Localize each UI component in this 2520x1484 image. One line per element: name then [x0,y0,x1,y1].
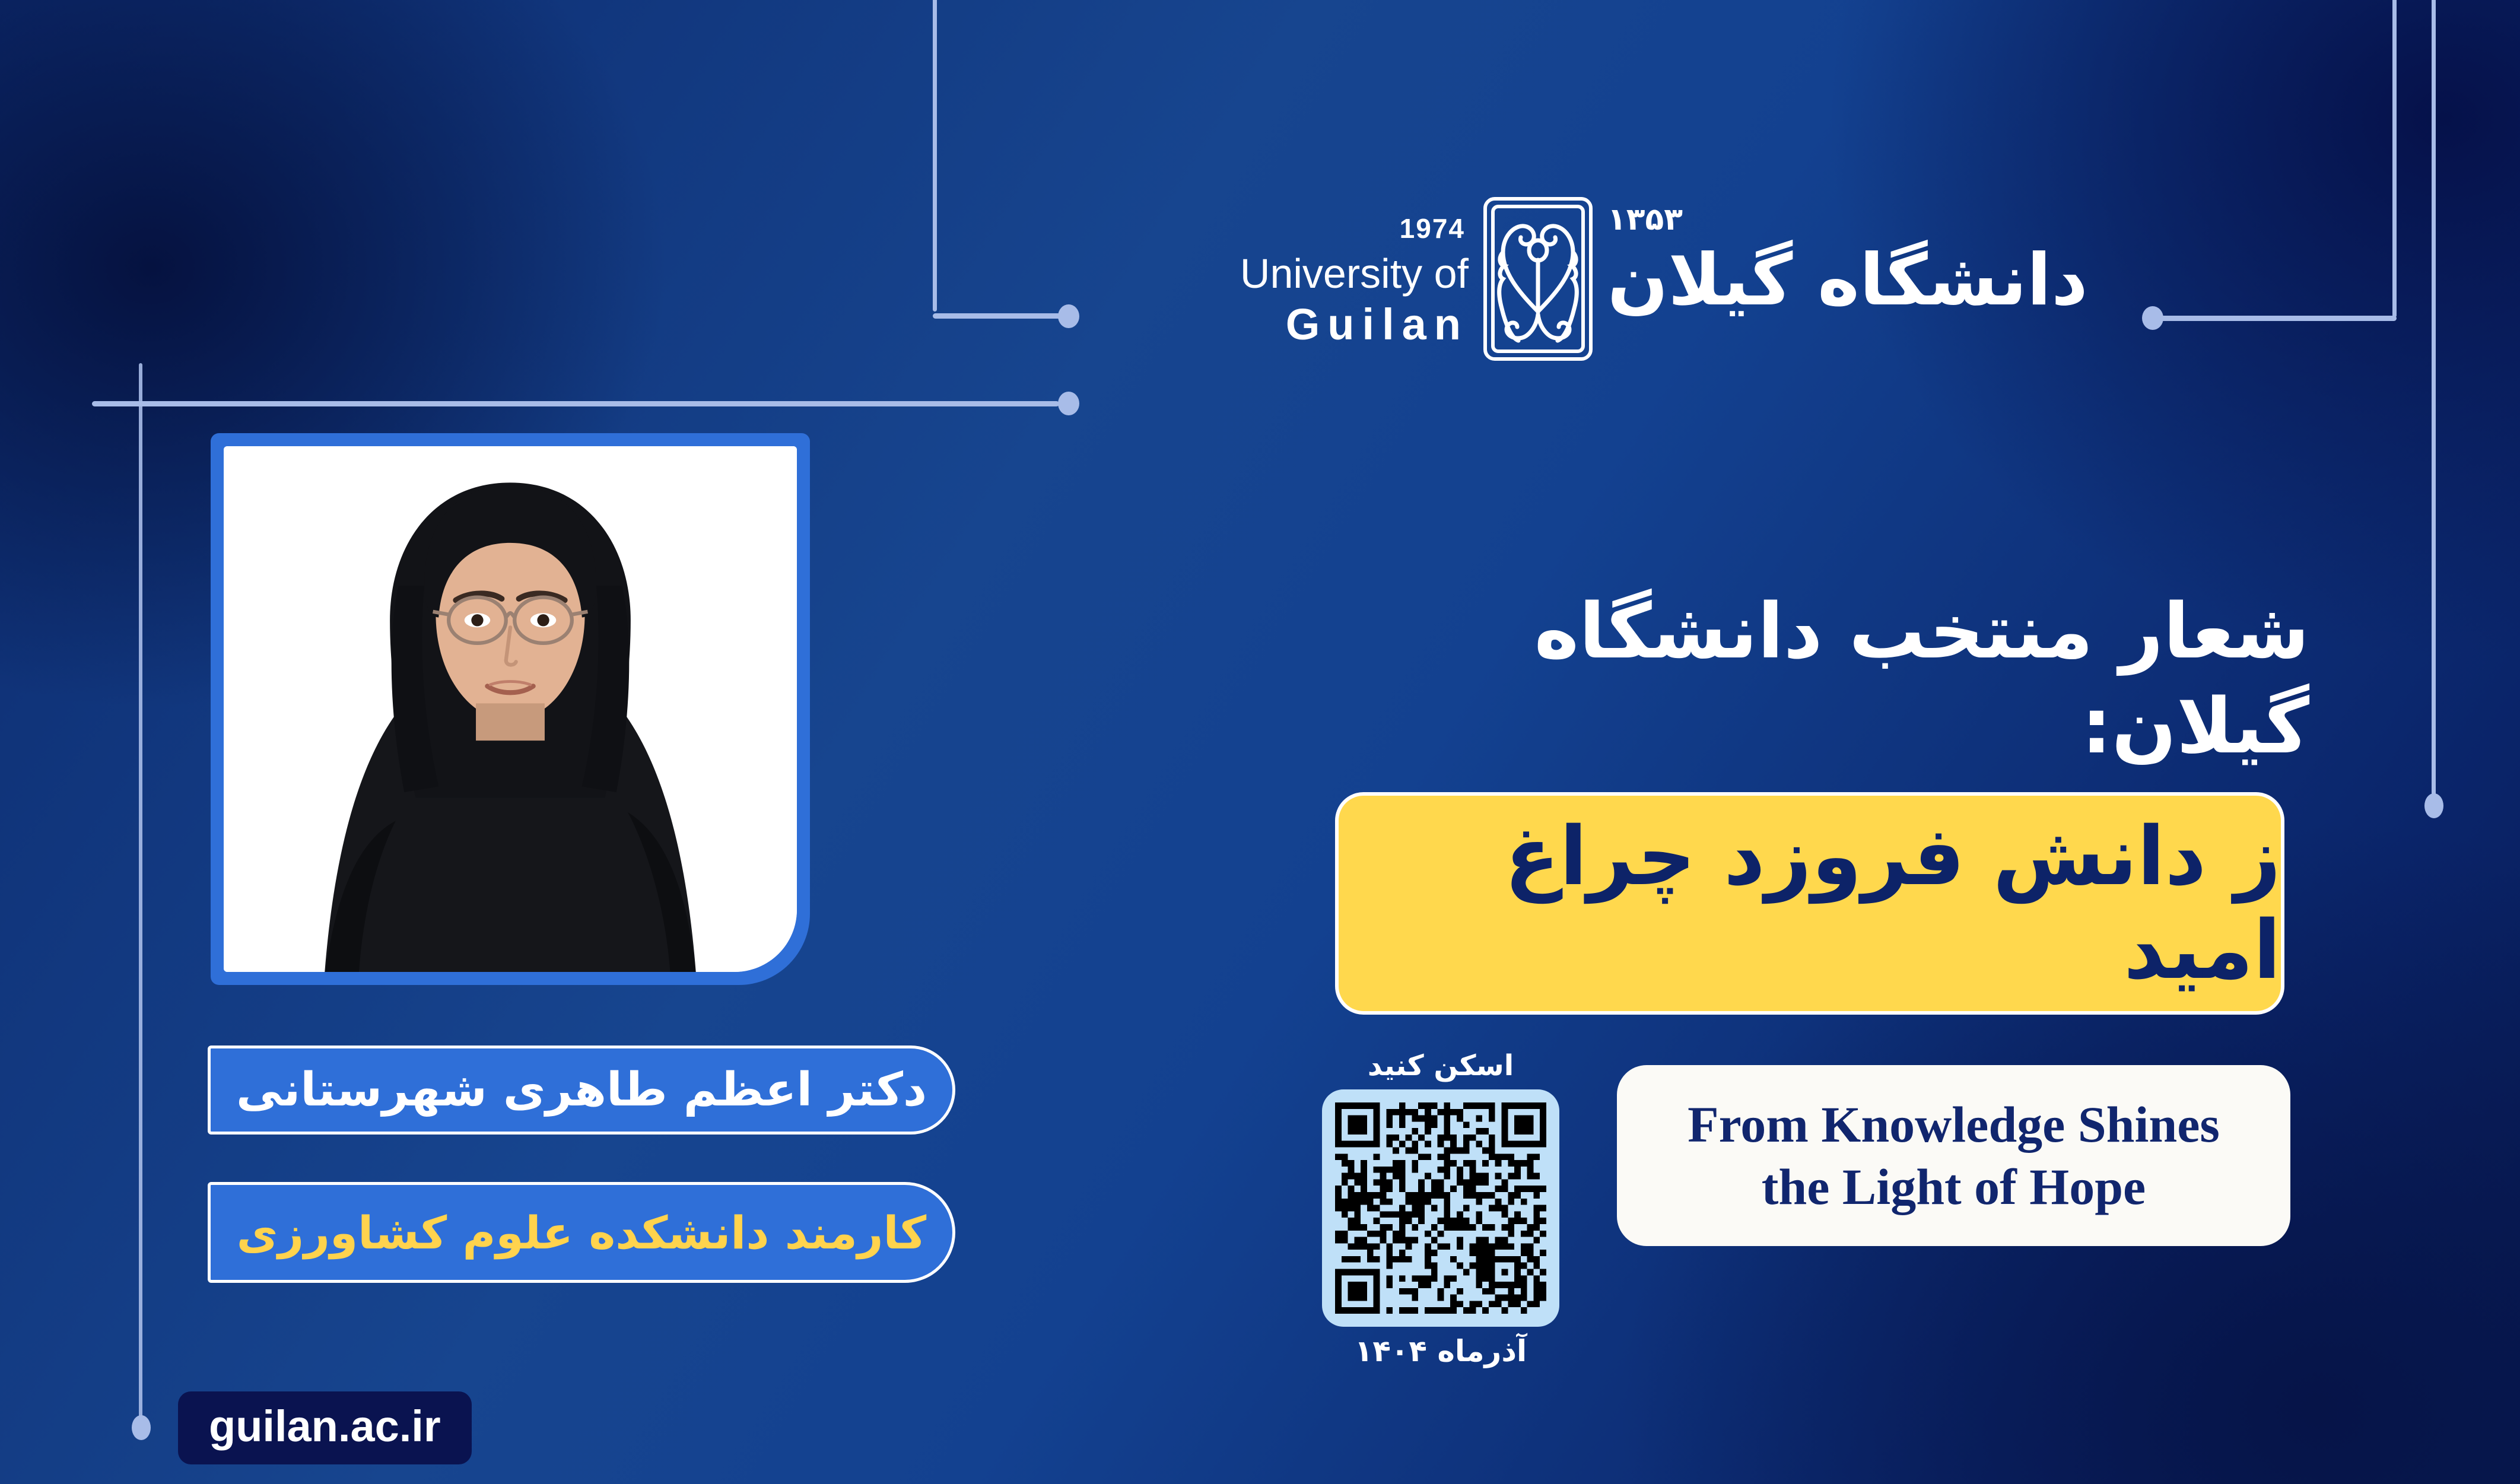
slogan-english-line1: From Knowledge Shines [1688,1094,2220,1156]
university-emblem-icon [1482,196,1594,362]
decor-line-vertical-right-long [2432,0,2436,801]
poster-canvas: 1974 University of Guilan [0,0,2520,1484]
logo-persian-block: ۱۳۵۳ دانشگاه گیلان [1607,196,2088,322]
qr-block: اسکن کنید آذرماه ۱۴۰۴ [1322,1049,1559,1368]
person-role-label: کارمند دانشکده علوم کشاورزی [237,1206,927,1259]
slogan-box: ز دانش فروزد چراغ امید [1335,792,2284,1015]
decor-line-horizontal-long [92,401,1059,406]
slogan-english-line2: the Light of Hope [1762,1156,2146,1218]
slogan-text-persian: ز دانش فروزد چراغ امید [1339,810,2281,997]
qr-code[interactable] [1322,1089,1559,1327]
qr-caption: اسکن کنید [1322,1049,1559,1082]
logo-guilan-word: Guilan [1196,303,1469,347]
slogan-heading: شعار منتخب دانشگاه گیلان: [1336,584,2309,774]
qr-date-label: آذرماه ۱۴۰۴ [1322,1334,1559,1368]
person-name-label: دکتر اعظم طاهری شهرستانی [236,1063,927,1117]
decor-line-horizontal-topleft [933,313,1063,319]
decor-dot-topright [2142,306,2163,330]
logo-founded-year-gregorian: 1974 [1196,215,1469,242]
decor-dot-right-long [2424,793,2443,818]
decor-dot-bottomleft [132,1415,151,1440]
portrait-photo [224,446,797,972]
qr-code-icon [1335,1102,1546,1314]
logo-founded-year-persian: ۱۳۵۳ [1607,202,2088,237]
logo-english-block: 1974 University of Guilan [1196,196,1469,347]
university-logo: 1974 University of Guilan [1196,196,2088,362]
decor-line-vertical-left-tick [139,363,142,1425]
decor-dot-topleft [1058,304,1079,328]
person-role-pill: کارمند دانشکده علوم کشاورزی [208,1182,955,1283]
website-badge[interactable]: guilan.ac.ir [178,1391,472,1464]
decor-line-vertical-topright [2392,0,2397,317]
logo-university-word: University of [1196,253,1469,294]
portrait-frame [211,433,810,985]
person-name-pill: دکتر اعظم طاهری شهرستانی [208,1046,955,1135]
slogan-english-box: From Knowledge Shines the Light of Hope [1617,1065,2290,1246]
logo-university-name-persian: دانشگاه گیلان [1607,240,2088,322]
decor-dot-long-line [1058,392,1079,415]
decor-line-horizontal-topright [2151,316,2397,321]
decor-line-vertical-topleft [933,0,937,312]
